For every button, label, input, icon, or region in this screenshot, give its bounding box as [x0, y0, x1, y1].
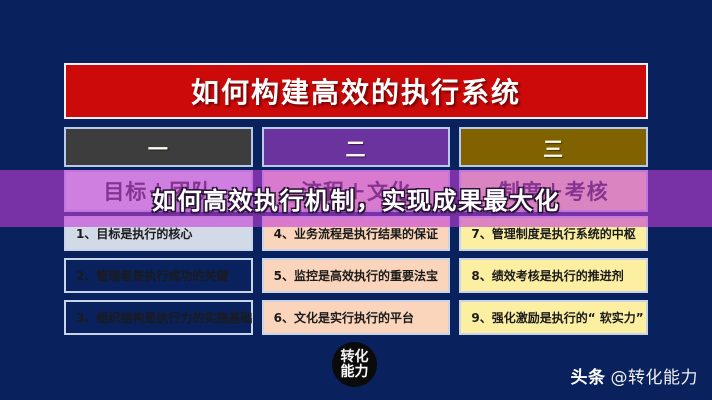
column-one-number: 一 [148, 133, 169, 162]
slide-canvas: 如何构建高效的执行系统 一 目标＋团队 1、目标是执行的核心 2、管理者是执行成… [0, 0, 712, 400]
column-one: 一 目标＋团队 1、目标是执行的核心 2、管理者是执行成功的关键 3、组织结构是… [64, 127, 253, 342]
column-three-header: 三 [459, 127, 648, 167]
watermark-handle: @转化能力 [611, 363, 699, 388]
watermark: 头条 @转化能力 [571, 363, 699, 388]
list-item-label: 7、管理制度是执行系统的中枢 [471, 225, 635, 242]
list-item: 5、监控是高效执行的重要法宝 [262, 258, 451, 293]
column-two-header: 二 [262, 127, 451, 167]
title-banner: 如何构建高效的执行系统 [64, 63, 648, 119]
column-three-subtitle-text: 制度＋考核 [499, 176, 609, 206]
list-item-label: 6、文化是实行执行的平台 [274, 309, 414, 326]
brand-logo: 转化 能力 [332, 342, 377, 387]
list-item-label: 1、目标是执行的核心 [76, 225, 192, 242]
list-item: 7、管理制度是执行系统的中枢 [459, 216, 648, 251]
watermark-brand: 头条 [571, 363, 606, 388]
column-one-header: 一 [64, 127, 253, 167]
columns-container: 一 目标＋团队 1、目标是执行的核心 2、管理者是执行成功的关键 3、组织结构是… [64, 127, 648, 342]
column-two-subtitle: 流程＋文化 [262, 170, 451, 212]
column-one-subtitle: 目标＋团队 [64, 170, 253, 212]
column-three: 三 制度＋考核 7、管理制度是执行系统的中枢 8、绩效考核是执行的推进剂 9、强… [459, 127, 648, 342]
list-item: 2、管理者是执行成功的关键 [64, 258, 253, 293]
list-item: 9、强化激励是执行的“ 软实力” [459, 300, 648, 335]
list-item: 3、组织结构是执行力的实施基础 [64, 300, 253, 335]
column-three-number: 三 [543, 133, 564, 162]
list-item-label: 8、绩效考核是执行的推进剂 [471, 267, 623, 284]
page-title: 如何构建高效的执行系统 [191, 71, 521, 111]
column-one-subtitle-text: 目标＋团队 [103, 176, 213, 206]
column-two-number: 二 [346, 133, 367, 162]
list-item: 8、绩效考核是执行的推进剂 [459, 258, 648, 293]
list-item: 1、目标是执行的核心 [64, 216, 253, 251]
list-item-label: 2、管理者是执行成功的关键 [76, 267, 228, 284]
column-two: 二 流程＋文化 4、业务流程是执行结果的保证 5、监控是高效执行的重要法宝 6、… [262, 127, 451, 342]
list-item-label: 4、业务流程是执行结果的保证 [274, 225, 438, 242]
brand-logo-line-two: 能力 [341, 365, 369, 379]
list-item-label: 5、监控是高效执行的重要法宝 [274, 267, 438, 284]
list-item-label: 3、组织结构是执行力的实施基础 [76, 309, 252, 326]
list-item-label: 9、强化激励是执行的“ 软实力” [471, 309, 643, 326]
list-item: 4、业务流程是执行结果的保证 [262, 216, 451, 251]
list-item: 6、文化是实行执行的平台 [262, 300, 451, 335]
column-two-subtitle-text: 流程＋文化 [301, 176, 411, 206]
column-three-subtitle: 制度＋考核 [459, 170, 648, 212]
brand-logo-line-one: 转化 [341, 350, 369, 364]
